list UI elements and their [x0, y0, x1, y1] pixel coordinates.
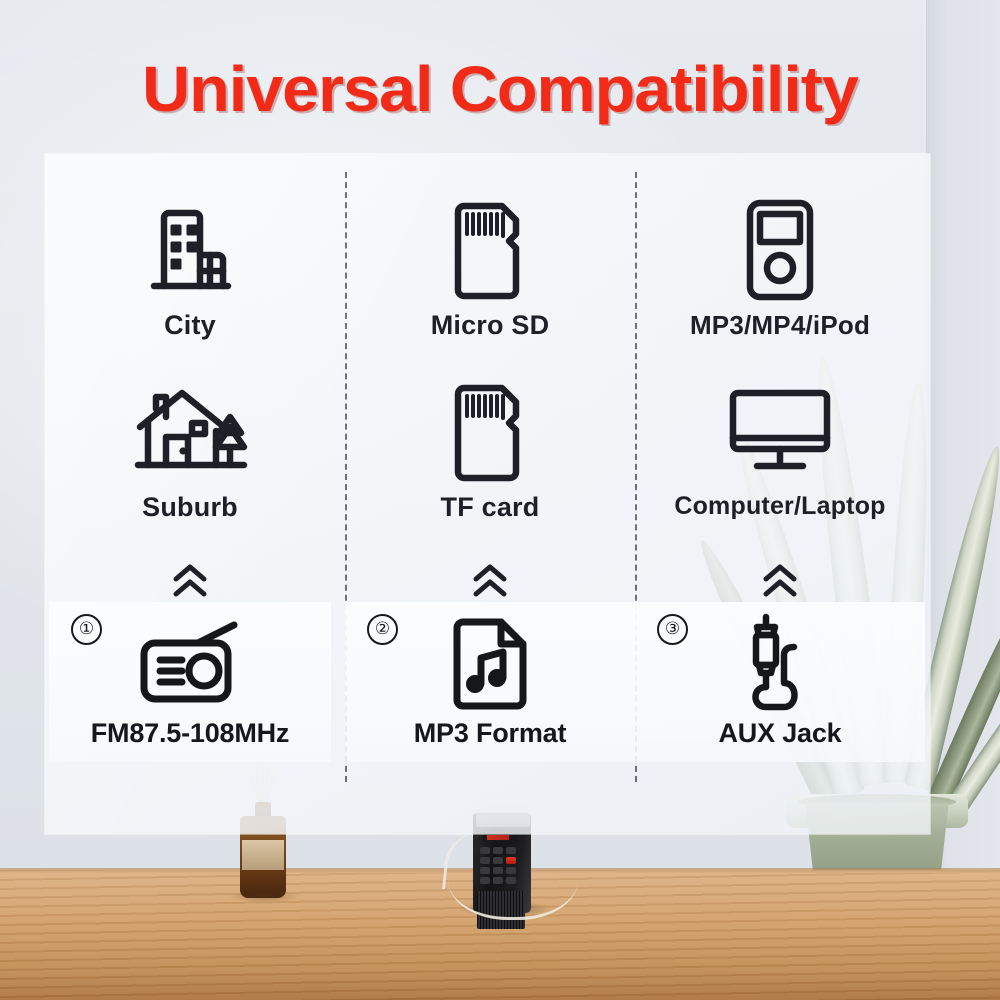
card-number: ① — [71, 614, 102, 645]
house-tree-icon — [45, 376, 335, 488]
card-fm-radio: ① FM87.5-108MHz — [49, 602, 331, 762]
tf-card-icon — [345, 376, 635, 488]
microsd-card-icon — [345, 194, 635, 306]
card-label: AUX Jack — [635, 718, 925, 749]
mp3-player-icon — [635, 194, 925, 306]
radio-display — [483, 833, 517, 842]
city-building-icon — [45, 194, 335, 306]
infographic-stage: Universal Compatibility City — [0, 0, 1000, 1000]
double-chevron-up-icon — [45, 558, 335, 604]
double-chevron-up-icon — [635, 558, 925, 604]
card-number: ② — [367, 614, 398, 645]
column-storage: Micro SD TF card ② — [345, 154, 635, 834]
card-number: ③ — [657, 614, 688, 645]
feature-label: Micro SD — [345, 310, 635, 341]
feature-suburb: Suburb — [45, 376, 335, 556]
card-label: MP3 Format — [345, 718, 635, 749]
monitor-icon — [635, 376, 925, 488]
feature-mp3player: MP3/MP4/iPod — [635, 194, 925, 374]
feature-city: City — [45, 194, 335, 374]
feature-microsd: Micro SD — [345, 194, 635, 374]
feature-label: MP3/MP4/iPod — [635, 310, 925, 341]
double-chevron-up-icon — [345, 558, 635, 604]
feature-tfcard: TF card — [345, 376, 635, 556]
feature-label: City — [45, 310, 335, 341]
feature-computer: Computer/Laptop — [635, 376, 925, 556]
column-devices: MP3/MP4/iPod Computer/Laptop ③ — [635, 154, 925, 834]
card-mp3-format: ② MP3 Format — [345, 602, 635, 762]
feature-label: TF card — [345, 492, 635, 523]
feature-label: Computer/Laptop — [635, 492, 925, 521]
page-title: Universal Compatibility — [0, 52, 1000, 126]
card-label: FM87.5-108MHz — [49, 718, 331, 749]
feature-label: Suburb — [45, 492, 335, 523]
column-reception: City Suburb — [45, 154, 335, 834]
card-aux-jack: ③ AUX Jack — [635, 602, 925, 762]
